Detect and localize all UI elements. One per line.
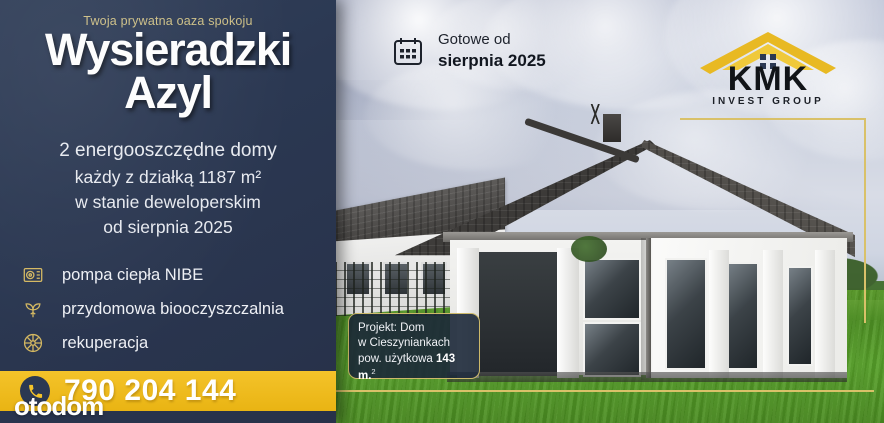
project-area-label: pow. użytkowa [358, 353, 436, 365]
page-title: Wysieradzki Azyl [0, 28, 336, 114]
project-info-box: Projekt: Dom w Cieszyniankach pow. użytk… [348, 313, 480, 379]
info-panel: Twoja prywatna oaza spokoju Wysieradzki … [0, 0, 336, 423]
facade-pillar [815, 250, 835, 378]
features-list: pompa ciepła NIBE przydomowa biooczyszcz… [22, 258, 336, 360]
heat-pump-icon [22, 264, 44, 286]
ready-value: sierpnia 2025 [438, 51, 546, 70]
description-block: 2 energooszczędne domy każdy z działką 1… [0, 138, 336, 240]
feature-label: pompa ciepła NIBE [62, 266, 203, 285]
ready-label: Gotowe od [438, 31, 511, 48]
window [787, 266, 813, 366]
project-line-2: w Cieszyniankach [358, 336, 470, 351]
window [725, 262, 759, 370]
otodom-watermark: otodom [14, 391, 103, 422]
feature-item-heat-pump: pompa ciepła NIBE [22, 258, 336, 292]
downpipe [646, 238, 651, 378]
feature-item-heat-recovery: rekuperacja [22, 326, 336, 360]
project-area-superscript: 2 [371, 367, 375, 376]
feature-label: przydomowa biooczyszczalnia [62, 300, 284, 319]
title-line-2: Azyl [0, 71, 336, 114]
svg-text:INVEST GROUP: INVEST GROUP [712, 96, 824, 107]
feature-label: rekuperacja [62, 334, 148, 353]
ready-date-block: Gotowe od sierpnia 2025 [392, 30, 546, 72]
description-line: w stanie deweloperskim [0, 190, 336, 215]
facade-pillar [709, 250, 729, 378]
terrace-column [557, 248, 579, 378]
chimney [603, 114, 621, 142]
ventilation-fan-icon [22, 332, 44, 354]
shrub [571, 236, 607, 262]
kmk-invest-group-logo: KMK INVEST GROUP [688, 28, 848, 110]
fence [335, 262, 465, 316]
description-line: każdy z działką 1187 m² [0, 165, 336, 190]
facade-pillar [763, 250, 783, 378]
description-line: od sierpnia 2025 [0, 215, 336, 240]
eco-plant-icon [22, 298, 44, 320]
project-line-1: Projekt: Dom [358, 321, 470, 336]
house-plinth [447, 372, 847, 382]
calendar-icon [392, 35, 424, 67]
feature-item-biological-treatment: przydomowa biooczyszczalnia [22, 292, 336, 326]
project-line-3: pow. użytkowa 143 m.2 [358, 352, 470, 384]
svg-text:KMK: KMK [728, 60, 808, 98]
description-line: 2 energooszczędne domy [0, 138, 336, 165]
real-estate-ad-banner: Gotowe od sierpnia 2025 KMK INVEST GROUP… [0, 0, 884, 423]
window [583, 322, 641, 377]
window [665, 258, 707, 370]
window [583, 258, 641, 320]
ready-date-text: Gotowe od sierpnia 2025 [438, 30, 546, 72]
decor-frame-bottom-line [334, 390, 874, 392]
